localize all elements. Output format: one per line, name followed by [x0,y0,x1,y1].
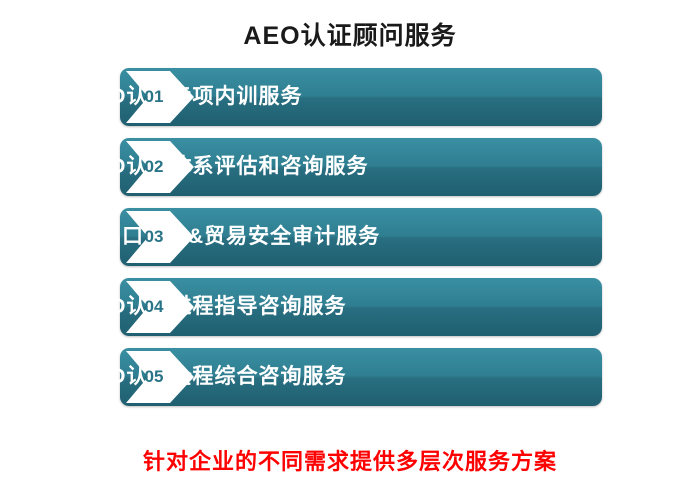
list-item[interactable]: AEO认证体系评估和咨询服务 02 [0,138,700,196]
service-list: AEO认证专项内训服务 01 AEO认证体系评估和咨询服务 02 进出口活动&贸… [0,68,700,418]
list-item[interactable]: 进出口活动&贸易安全审计服务 03 [0,208,700,266]
footer-caption: 针对企业的不同需求提供多层次服务方案 [0,444,700,476]
page-title: AEO认证顾问服务 [0,16,700,52]
item-number: 03 [126,211,182,263]
list-item[interactable]: AEO认证专项内训服务 01 [0,68,700,126]
chevron-badge: 04 [126,281,194,333]
item-number: 01 [126,71,182,123]
chevron-badge: 05 [126,351,194,403]
slide-root: AEO认证顾问服务 AEO认证专项内训服务 01 AEO认证体系评估和咨询服务 … [0,0,700,494]
item-label: 进出口活动&贸易安全审计服务 [78,208,380,266]
list-item[interactable]: AEO认证过程指导咨询服务 04 [0,278,700,336]
item-label: AEO认证过程指导咨询服务 [78,278,347,336]
list-item[interactable]: AEO认证全程综合咨询服务 05 [0,348,700,406]
item-number: 02 [126,141,182,193]
item-number: 04 [126,281,182,333]
chevron-badge: 02 [126,141,194,193]
item-label: AEO认证全程综合咨询服务 [78,348,347,406]
chevron-badge: 03 [126,211,194,263]
item-label: AEO认证体系评估和咨询服务 [78,138,369,196]
chevron-badge: 01 [126,71,194,123]
item-number: 05 [126,351,182,403]
